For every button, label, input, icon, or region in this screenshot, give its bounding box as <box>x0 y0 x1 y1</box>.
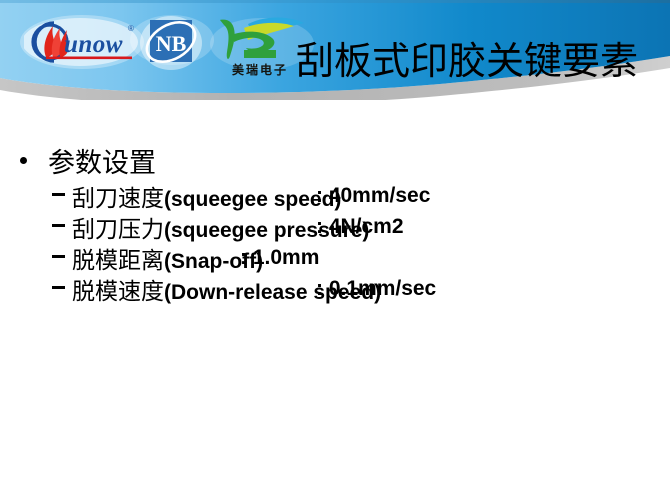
slide-body: 参数设置 刮刀速度(squeegee speed) : 40mm/sec 刮刀压… <box>0 140 670 304</box>
sunow-logo: unow ® <box>24 17 140 67</box>
en-dash-icon <box>52 224 65 227</box>
sunow-underline <box>46 57 132 60</box>
list-item: 刮刀压力(squeegee pressure) : 4N/cm2 <box>0 211 670 242</box>
nb-logo: NB <box>140 13 202 71</box>
nb-wordmark: NB <box>156 31 187 56</box>
bullet-level1: 参数设置 <box>0 140 670 180</box>
param-label-cn: 刮刀速度 <box>72 186 164 212</box>
page-title: 刮板式印胶关键要素 <box>296 36 670 86</box>
meirui-wordmark: 美瑞电子 <box>232 62 288 77</box>
round-bullet-icon <box>20 157 27 164</box>
en-dash-icon <box>52 193 65 196</box>
param-value: : 0.1mm/sec <box>316 277 436 301</box>
en-dash-icon <box>52 255 65 258</box>
param-label-cn: 脱模速度 <box>72 279 164 305</box>
param-label-cn: 脱模距离 <box>72 248 164 274</box>
meirui-logo: 美瑞电子 <box>214 14 306 78</box>
param-value: : 1.0mm <box>240 246 319 270</box>
registered-mark-icon: ® <box>128 24 134 33</box>
presentation-slide: unow ® NB <box>0 0 670 502</box>
param-value: : 40mm/sec <box>316 184 430 208</box>
param-label-cn: 刮刀压力 <box>72 217 164 243</box>
param-value: : 4N/cm2 <box>316 215 404 239</box>
list-item: 脱模距离(Snap-off) : 1.0mm <box>0 242 670 273</box>
param-label-en: (squeegee speed) <box>164 188 341 211</box>
bullet-level1-label: 参数设置 <box>48 141 156 180</box>
list-item: 刮刀速度(squeegee speed) : 40mm/sec <box>0 180 670 211</box>
sunow-wordmark: unow <box>64 31 123 58</box>
en-dash-icon <box>52 286 65 289</box>
green-swoosh-icon <box>220 20 235 59</box>
list-item: 脱模速度(Down-release speed) : 0.1mm/sec <box>0 273 670 304</box>
